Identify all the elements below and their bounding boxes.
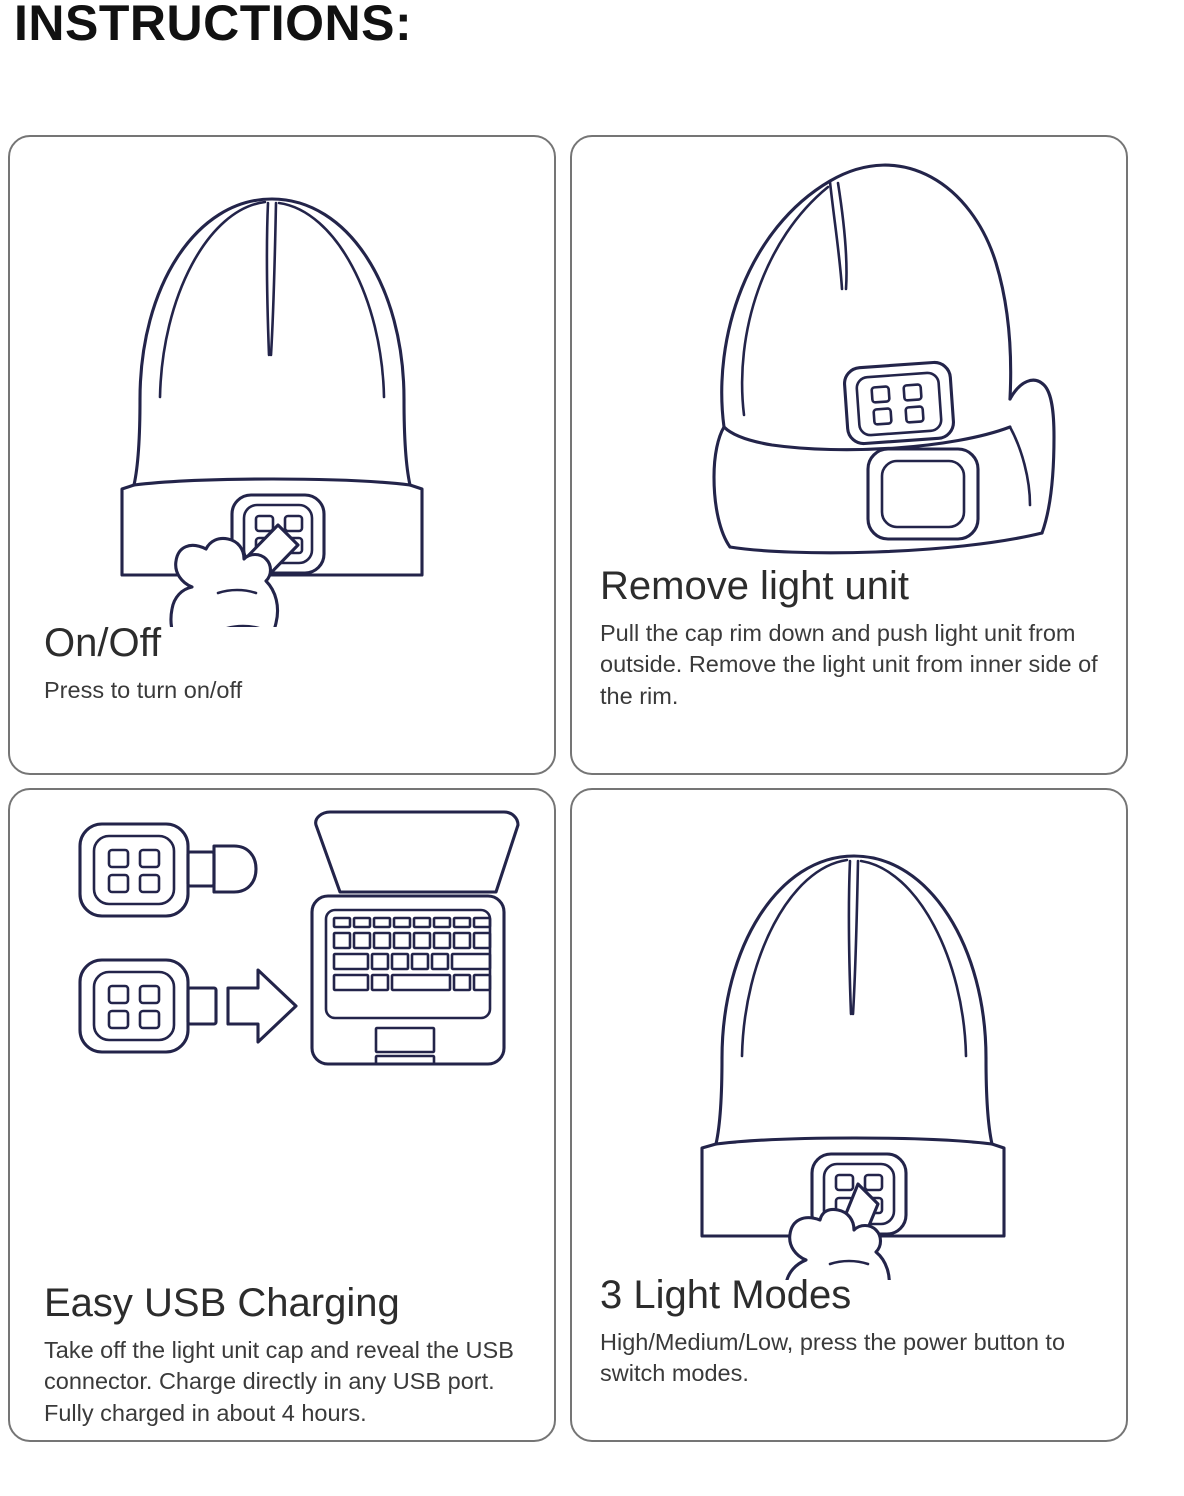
- card-text-block: Easy USB Charging Take off the light uni…: [44, 1282, 532, 1429]
- card-text-block: Remove light unit Pull the cap rim down …: [600, 565, 1108, 712]
- instruction-card-easy-usb-charging: Easy USB Charging Take off the light uni…: [8, 788, 556, 1442]
- page-title: INSTRUCTIONS:: [14, 0, 412, 52]
- illustration-beanie-remove-unit: [572, 137, 1126, 557]
- card-heading: Remove light unit: [600, 565, 1108, 608]
- laptop: [312, 812, 518, 1064]
- instruction-card-3-light-modes: 3 Light Modes High/Medium/Low, press the…: [570, 788, 1128, 1442]
- instruction-card-grid: On/Off Press to turn on/off: [8, 135, 1128, 1442]
- arrow-right-icon: [228, 970, 296, 1042]
- card-text-block: 3 Light Modes High/Medium/Low, press the…: [600, 1274, 1108, 1390]
- light-unit-without-cap: [80, 960, 216, 1052]
- illustration-beanie-press-button: [10, 137, 554, 627]
- card-heading: On/Off: [44, 622, 532, 665]
- card-body: Press to turn on/off: [44, 675, 532, 706]
- light-unit-with-cap: [80, 824, 256, 916]
- card-body: Take off the light unit cap and reveal t…: [44, 1335, 532, 1429]
- card-heading: Easy USB Charging: [44, 1282, 532, 1325]
- instruction-card-on-off: On/Off Press to turn on/off: [8, 135, 556, 775]
- card-heading: 3 Light Modes: [600, 1274, 1108, 1317]
- illustration-usb-charging: [10, 790, 554, 1260]
- illustration-beanie-switch-modes: [572, 790, 1126, 1280]
- card-text-block: On/Off Press to turn on/off: [44, 622, 532, 706]
- card-body: Pull the cap rim down and push light uni…: [600, 618, 1108, 712]
- card-body: High/Medium/Low, press the power button …: [600, 1327, 1108, 1390]
- instruction-card-remove-light-unit: Remove light unit Pull the cap rim down …: [570, 135, 1128, 775]
